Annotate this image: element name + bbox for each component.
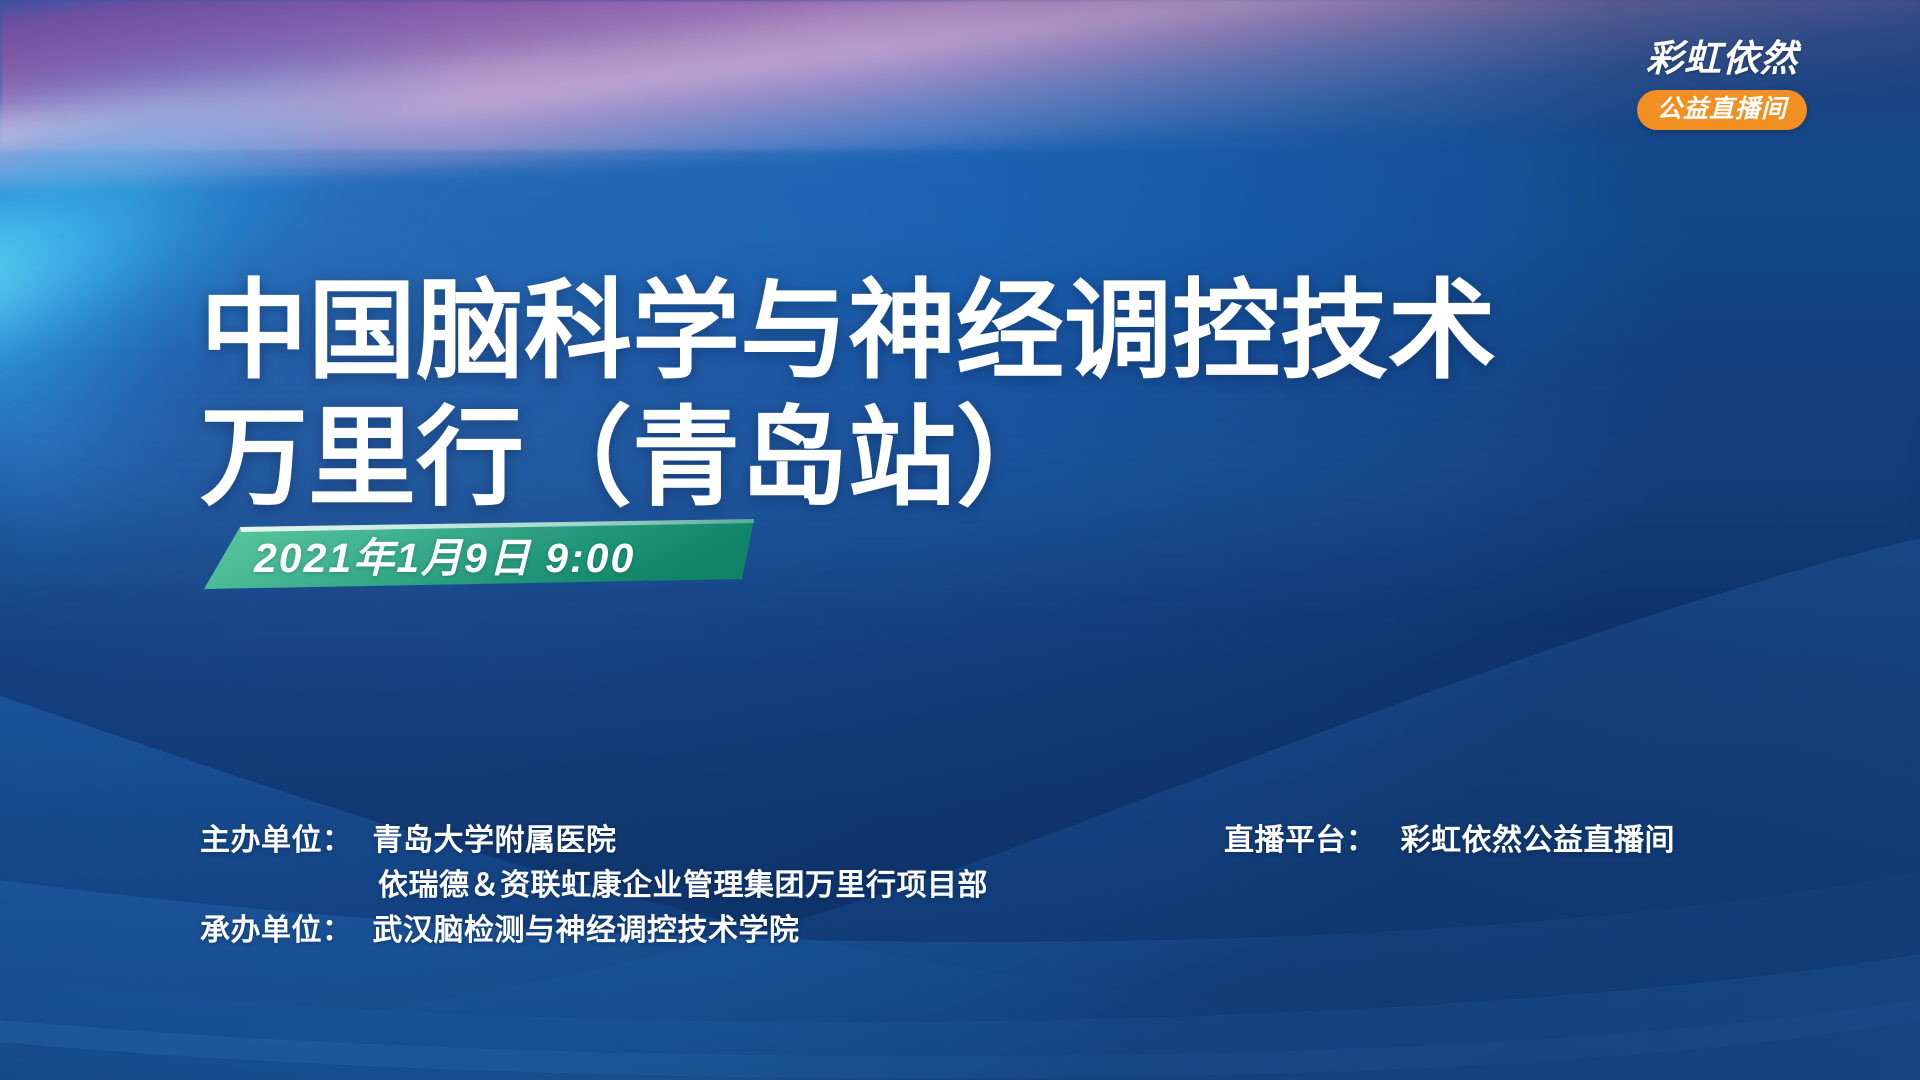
event-date-banner: 2021年1月9日 9:00 — [196, 515, 756, 593]
platform-info: 直播平台：彩虹依然公益直播间 — [1224, 818, 1675, 863]
brand-name: 彩虹依然 — [1622, 40, 1822, 77]
title-line-2: 万里行（青岛站） — [200, 395, 1496, 521]
event-date-text: 2021年1月9日 9:00 — [254, 524, 635, 584]
organizer-row: 主办单位：青岛大学附属医院 — [200, 818, 988, 863]
organizer-info: 主办单位：青岛大学附属医院 依瑞德＆资联虹康企业管理集团万里行项目部 承办单位：… — [200, 818, 988, 953]
organizer-value-secondary: 依瑞德＆资联虹康企业管理集团万里行项目部 — [378, 863, 988, 908]
charity-livestream-badge: 公益直播间 — [1637, 90, 1807, 130]
host-label: 承办单位： — [200, 908, 353, 953]
host-row: 承办单位：武汉脑检测与神经调控技术学院 — [200, 908, 988, 953]
platform-row: 直播平台：彩虹依然公益直播间 — [1224, 818, 1675, 863]
organizer-label: 主办单位： — [200, 818, 353, 863]
platform-label: 直播平台： — [1224, 818, 1377, 863]
page-title: 中国脑科学与神经调控技术 万里行（青岛站） — [200, 268, 1496, 521]
organizer-value: 青岛大学附属医院 — [373, 818, 617, 863]
event-poster: 彩虹依然 公益直播间 中国脑科学与神经调控技术 万里行（青岛站） — [0, 0, 1920, 1080]
host-value: 武汉脑检测与神经调控技术学院 — [373, 908, 800, 953]
brand-logo: 彩虹依然 公益直播间 — [1622, 40, 1822, 130]
title-line-1: 中国脑科学与神经调控技术 — [200, 268, 1496, 394]
organizer-row-secondary: 依瑞德＆资联虹康企业管理集团万里行项目部 — [200, 863, 988, 908]
platform-value: 彩虹依然公益直播间 — [1401, 818, 1676, 863]
